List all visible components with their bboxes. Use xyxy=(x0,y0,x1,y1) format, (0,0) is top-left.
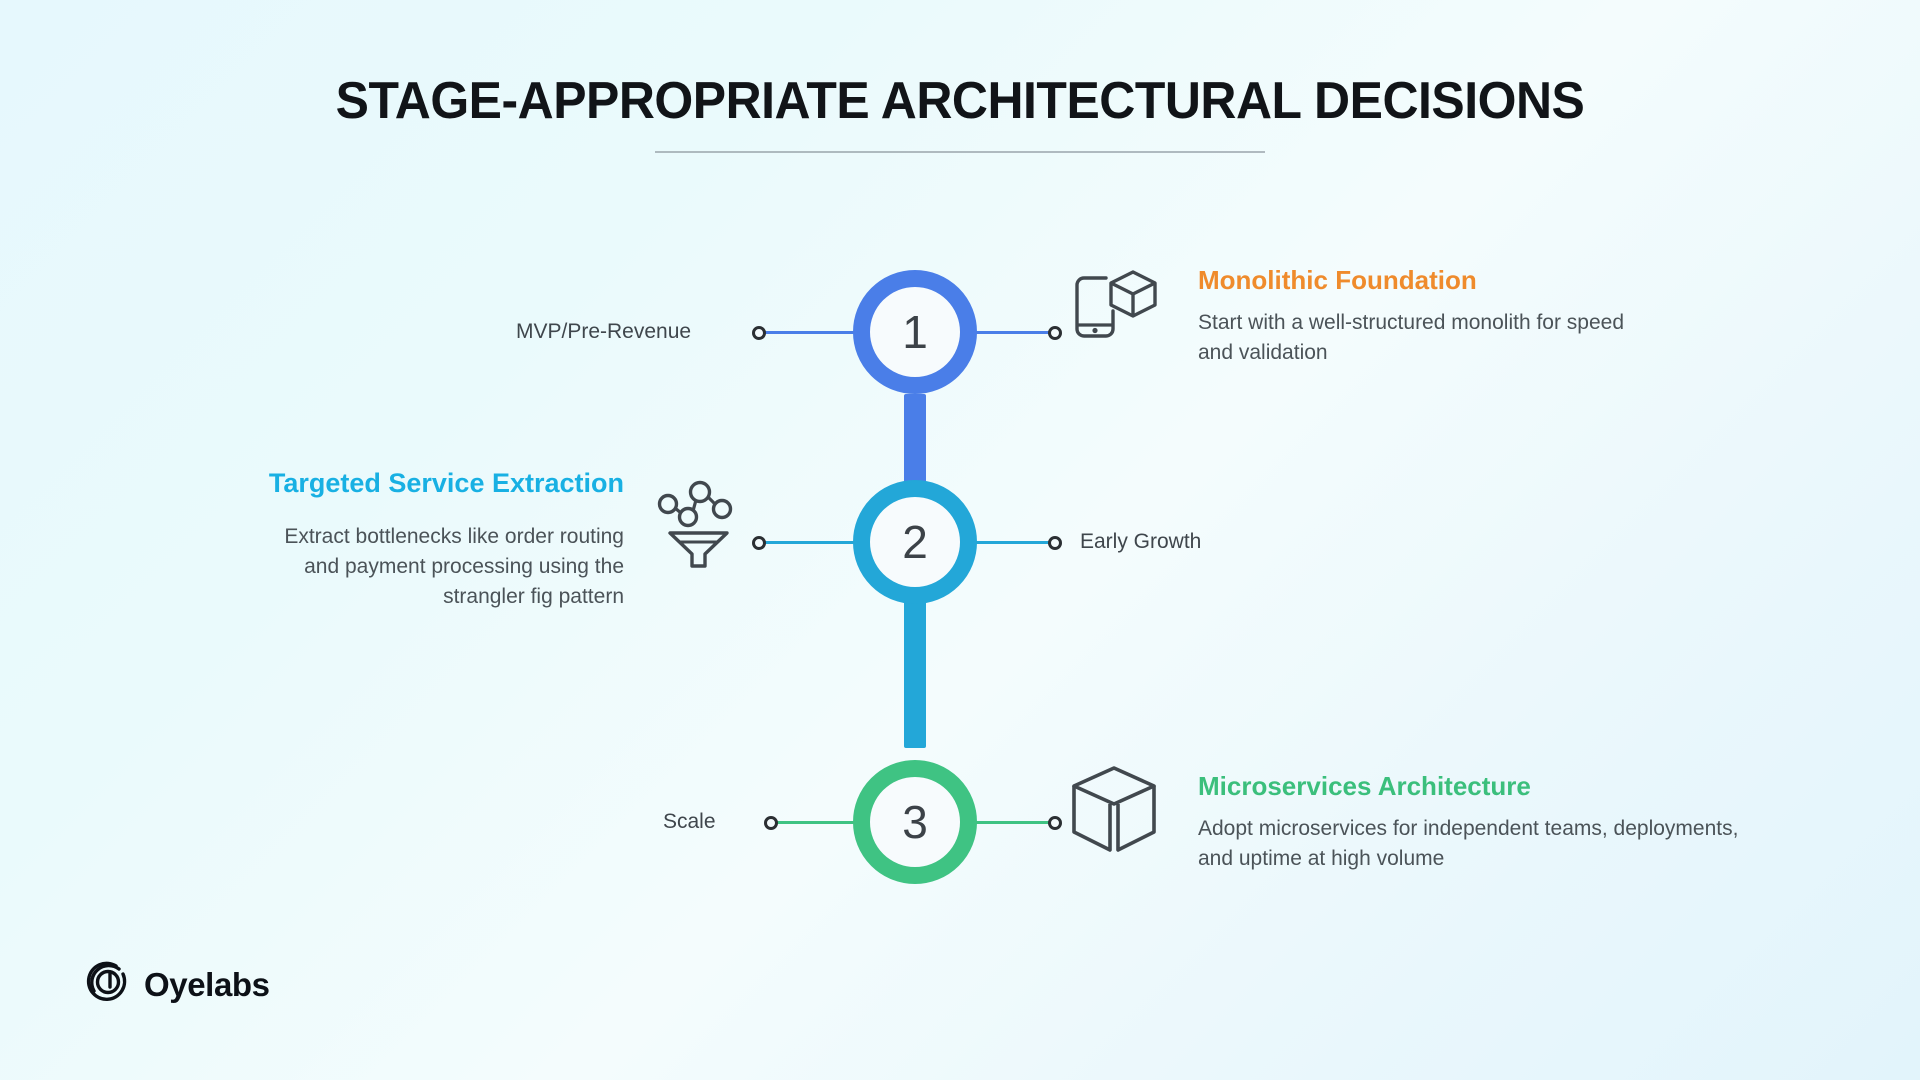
open-box-icon xyxy=(1068,762,1160,859)
connector-dot-1-left xyxy=(752,326,766,340)
connector-dot-3-left xyxy=(764,816,778,830)
step-number-1: 1 xyxy=(902,309,928,355)
connector-dot-2-left xyxy=(752,536,766,550)
step-detail-3: Microservices Architecture Adopt microse… xyxy=(1198,772,1758,874)
connector-dot-3-right xyxy=(1048,816,1062,830)
step-detail-1: Monolithic Foundation Start with a well-… xyxy=(1198,266,1658,368)
stage-label-2: Early Growth xyxy=(1080,530,1201,554)
stage-label-1: MVP/Pre-Revenue xyxy=(516,320,691,344)
connector-line-3-left xyxy=(770,821,858,824)
step-node-1[interactable]: 1 xyxy=(853,270,977,394)
oyelabs-circle-logo-icon xyxy=(86,960,130,1009)
step-number-2: 2 xyxy=(902,519,928,565)
step-node-3[interactable]: 3 xyxy=(853,760,977,884)
page-title: STAGE-APPROPRIATE ARCHITECTURAL DECISION… xyxy=(38,74,1881,129)
step-heading-1: Monolithic Foundation xyxy=(1198,266,1658,296)
step-node-2[interactable]: 2 xyxy=(853,480,977,604)
connector-line-3-right xyxy=(975,821,1055,824)
brand-name: Oyelabs xyxy=(144,966,270,1004)
infographic-canvas: STAGE-APPROPRIATE ARCHITECTURAL DECISION… xyxy=(0,0,1920,1080)
step-heading-3: Microservices Architecture xyxy=(1198,772,1758,802)
step-number-3: 3 xyxy=(902,799,928,845)
step-body-2: Extract bottlenecks like order routing a… xyxy=(244,522,624,612)
connector-dot-1-right xyxy=(1048,326,1062,340)
step-body-1: Start with a well-structured monolith fo… xyxy=(1198,308,1658,368)
brand-logo: Oyelabs xyxy=(86,960,270,1009)
connector-line-2-left xyxy=(758,541,858,544)
connector-line-1-right xyxy=(975,331,1055,334)
step-heading-2: Targeted Service Extraction xyxy=(244,468,624,500)
phone-cube-icon xyxy=(1068,262,1160,355)
step-body-3: Adopt microservices for independent team… xyxy=(1198,814,1758,874)
title-block: STAGE-APPROPRIATE ARCHITECTURAL DECISION… xyxy=(0,74,1920,153)
spine-segment-2-3 xyxy=(904,596,926,748)
stage-label-3: Scale xyxy=(663,810,716,834)
connector-dot-2-right xyxy=(1048,536,1062,550)
title-underline-rule xyxy=(655,151,1265,153)
connector-line-1-left xyxy=(758,331,858,334)
step-detail-2: Targeted Service Extraction Extract bott… xyxy=(244,468,624,612)
network-funnel-icon xyxy=(655,478,741,575)
connector-line-2-right xyxy=(975,541,1055,544)
